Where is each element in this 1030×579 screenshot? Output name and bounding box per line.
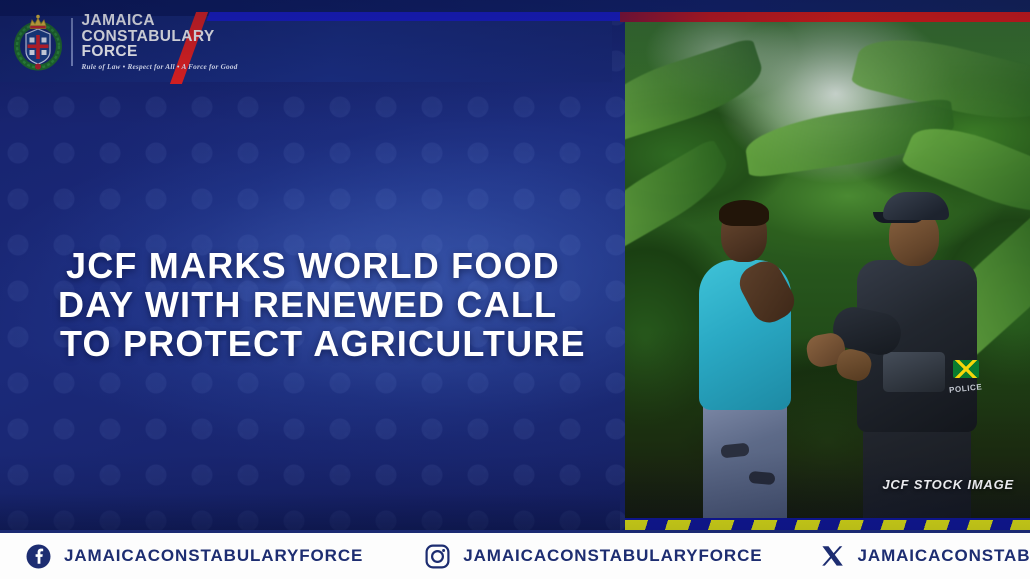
- photo-frame: POLICE JCF STOCK IMAGE: [625, 22, 1030, 534]
- facebook-icon[interactable]: [26, 544, 51, 569]
- farmer-hair: [719, 200, 769, 226]
- jeans-rip: [749, 471, 776, 485]
- leaf-shape: [625, 37, 770, 145]
- social-account-x[interactable]: JAMAICACONSTAB: [820, 544, 1030, 569]
- brand-lockup: JAMAICA CONSTABULARY FORCE Rule of Law •…: [14, 13, 238, 71]
- social-footer: JAMAICACONSTABULARYFORCE JAMAICACONSTABU…: [0, 533, 1030, 579]
- headline-line-1: JCF MARKS WORLD FOOD: [58, 246, 603, 285]
- headline-line-2: DAY WITH RENEWED CALL: [58, 285, 603, 324]
- officer-cap: [883, 192, 949, 220]
- x-handle[interactable]: JAMAICACONSTAB: [858, 546, 1030, 566]
- logo-divider: [71, 18, 73, 66]
- headline-line-3: TO PROTECT AGRICULTURE: [58, 324, 603, 363]
- social-account-facebook[interactable]: JAMAICACONSTABULARYFORCE: [26, 544, 363, 569]
- headline-block: JCF MARKS WORLD FOOD DAY WITH RENEWED CA…: [58, 246, 603, 363]
- brand-line-3: FORCE: [82, 44, 238, 60]
- x-twitter-icon[interactable]: [820, 544, 845, 569]
- brand-tagline: Rule of Law • Respect for All • A Force …: [82, 63, 238, 71]
- farmer-figure: [693, 200, 797, 534]
- photo-image: POLICE: [625, 22, 1030, 534]
- vest-pouch: [883, 352, 945, 392]
- jcf-crest-icon: [14, 13, 62, 71]
- blue-accent-bar: [206, 12, 633, 21]
- jeans-rip: [720, 443, 749, 459]
- instagram-handle[interactable]: JAMAICACONSTABULARYFORCE: [463, 546, 762, 566]
- facebook-handle[interactable]: JAMAICACONSTABULARYFORCE: [64, 546, 363, 566]
- brand-line-2: CONSTABULARY: [82, 29, 238, 45]
- brand-line-1: JAMAICA: [82, 13, 238, 29]
- photo-caption: JCF STOCK IMAGE: [882, 477, 1014, 492]
- social-account-instagram[interactable]: JAMAICACONSTABULARYFORCE: [425, 544, 762, 569]
- red-top-bar: [620, 12, 1030, 22]
- farmer-jeans: [703, 398, 787, 534]
- jcf-announcement-poster: JAMAICA CONSTABULARY FORCE Rule of Law •…: [0, 0, 1030, 579]
- brand-wordmark: JAMAICA CONSTABULARY FORCE Rule of Law •…: [82, 13, 238, 71]
- instagram-icon[interactable]: [425, 544, 450, 569]
- footer-top-rule: [0, 530, 1030, 533]
- police-patch-text: POLICE: [949, 382, 983, 394]
- jamaica-flag-patch-icon: [953, 360, 979, 378]
